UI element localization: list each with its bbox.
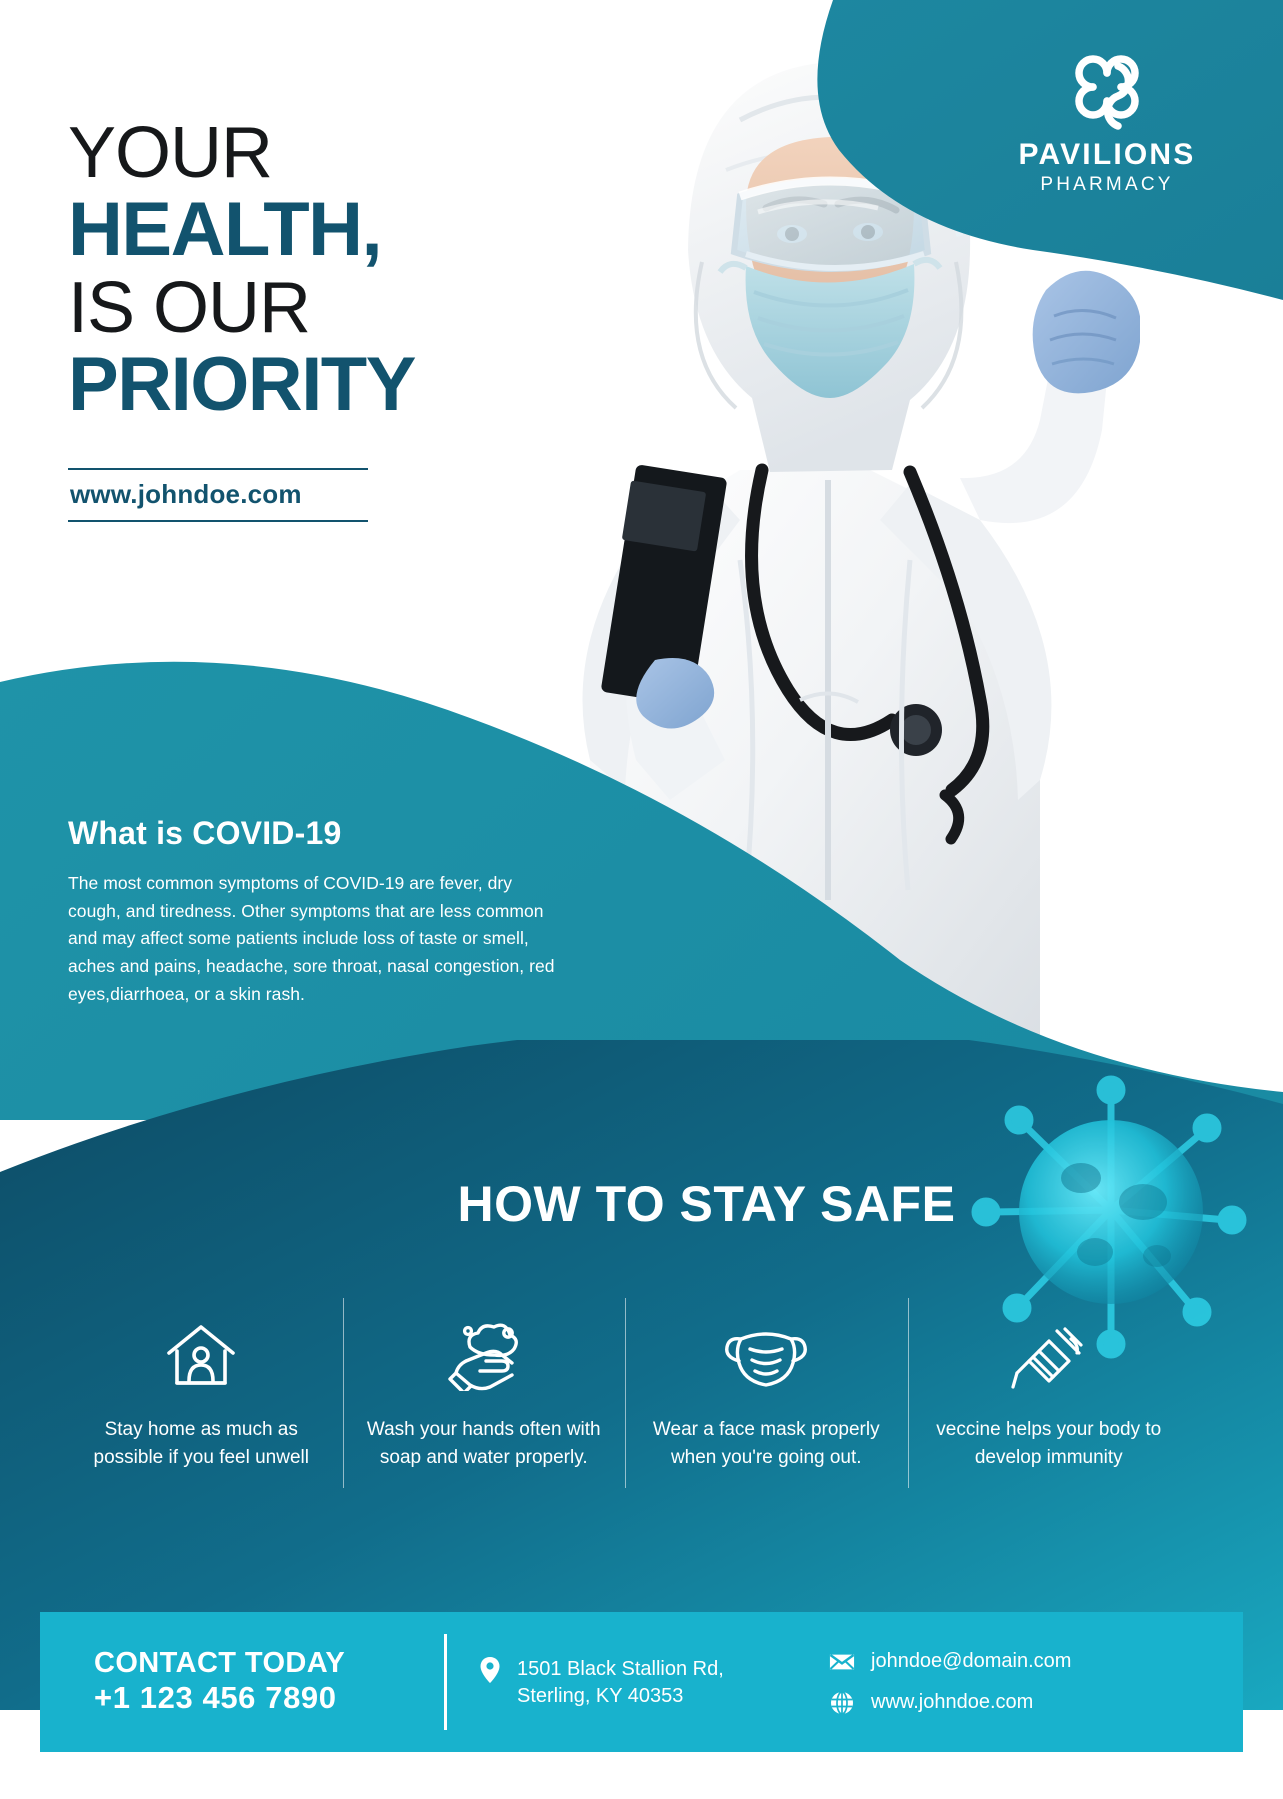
covid-title: What is COVID-19 xyxy=(68,815,568,852)
poster-canvas: PAVILIONS PHARMACY YOUR HEALTH, IS OUR P… xyxy=(0,0,1283,1799)
brand-name: PAVILIONS xyxy=(977,140,1237,170)
safety-tip-wash-hands: Wash your hands often with soap and wate… xyxy=(343,1320,626,1520)
brand-subname: PHARMACY xyxy=(977,173,1237,197)
safety-tips-row: Stay home as much as possible if you fee… xyxy=(60,1320,1190,1520)
covid-info-block: What is COVID-19 The most common symptom… xyxy=(68,815,568,1008)
globe-icon xyxy=(829,1691,855,1715)
hero-headline: YOUR HEALTH, IS OUR PRIORITY www.johndoe… xyxy=(68,118,415,522)
face-mask-icon xyxy=(723,1320,809,1392)
syringe-vaccine-icon xyxy=(1009,1320,1089,1392)
covid-body-text: The most common symptoms of COVID-19 are… xyxy=(68,870,568,1008)
safety-tip-text: Wash your hands often with soap and wate… xyxy=(355,1416,614,1471)
contact-phone[interactable]: +1 123 456 7890 xyxy=(94,1680,440,1717)
contact-online-block: johndoe@domain.com www.johndoe.com xyxy=(807,1648,1071,1716)
contact-divider xyxy=(444,1634,447,1730)
headline-line-2: HEALTH, xyxy=(68,193,415,267)
brand-logo[interactable]: PAVILIONS PHARMACY xyxy=(977,44,1237,197)
contact-website[interactable]: www.johndoe.com xyxy=(871,1689,1033,1716)
contact-email[interactable]: johndoe@domain.com xyxy=(871,1648,1071,1675)
house-person-icon xyxy=(163,1320,239,1392)
safety-tip-vaccine: veccine helps your body to develop immun… xyxy=(908,1320,1191,1520)
safety-tip-stay-home: Stay home as much as possible if you fee… xyxy=(60,1320,343,1520)
contact-title: CONTACT TODAY xyxy=(94,1647,440,1679)
hand-wash-soap-icon xyxy=(446,1320,522,1392)
contact-bar: CONTACT TODAY +1 123 456 7890 1501 Black… xyxy=(40,1612,1243,1752)
hero-url[interactable]: www.johndoe.com xyxy=(68,470,368,520)
hero-url-block[interactable]: www.johndoe.com xyxy=(68,468,368,522)
contact-website-row[interactable]: www.johndoe.com xyxy=(829,1689,1071,1716)
address-line-1: 1501 Black Stallion Rd, xyxy=(517,1658,724,1680)
contact-address-block[interactable]: 1501 Black Stallion Rd, Sterling, KY 403… xyxy=(477,1654,807,1710)
envelope-icon xyxy=(829,1652,855,1672)
safety-tip-text: Wear a face mask properly when you're go… xyxy=(637,1416,896,1471)
location-pin-icon xyxy=(477,1656,503,1684)
safety-tip-face-mask: Wear a face mask properly when you're go… xyxy=(625,1320,908,1520)
url-rule-bottom xyxy=(68,520,368,522)
safety-section-title: HOW TO STAY SAFE xyxy=(0,1175,1283,1233)
contact-email-row[interactable]: johndoe@domain.com xyxy=(829,1648,1071,1675)
pavilions-clover-icon xyxy=(1064,44,1150,130)
headline-line-4: PRIORITY xyxy=(68,348,415,422)
address-line-2: Sterling, KY 40353 xyxy=(517,1685,683,1707)
headline-line-1: YOUR xyxy=(68,118,415,189)
contact-headline-block: CONTACT TODAY +1 123 456 7890 xyxy=(40,1647,440,1716)
safety-tip-text: Stay home as much as possible if you fee… xyxy=(72,1416,331,1471)
headline-line-3: IS OUR xyxy=(68,273,415,344)
safety-tip-text: veccine helps your body to develop immun… xyxy=(920,1416,1179,1471)
contact-address: 1501 Black Stallion Rd, Sterling, KY 403… xyxy=(517,1656,724,1710)
